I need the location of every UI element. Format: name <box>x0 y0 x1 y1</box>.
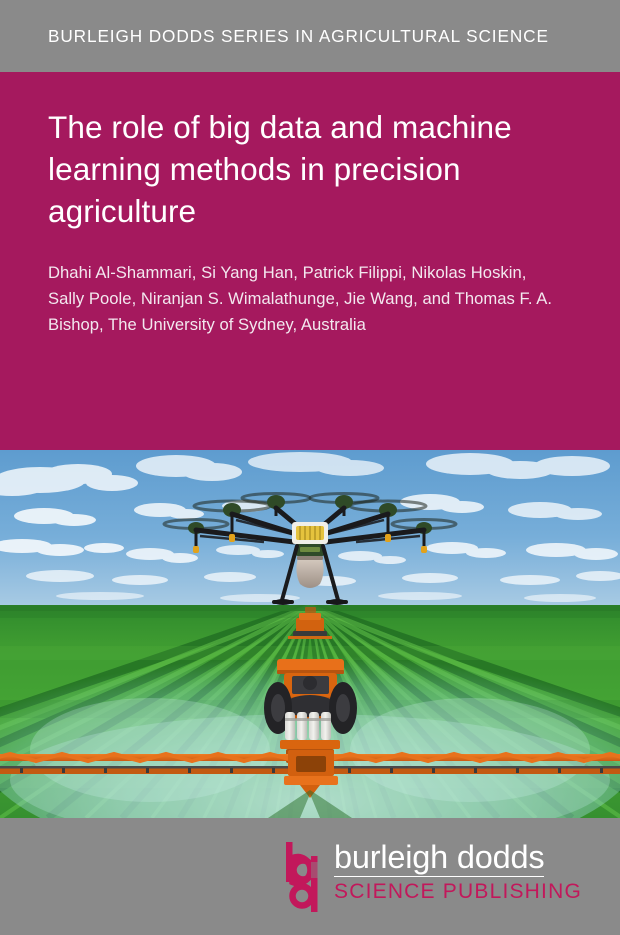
logo-tagline: SCIENCE PUBLISHING <box>334 877 582 904</box>
bd-monogram-icon <box>284 840 328 919</box>
far-distant-tractor <box>305 607 316 613</box>
drone-tank <box>296 558 323 588</box>
footer-bar: burleigh dodds SCIENCE PUBLISHING <box>0 818 620 935</box>
book-title: The role of big data and machine learnin… <box>48 106 568 232</box>
series-banner: BURLEIGH DODDS SERIES IN AGRICULTURAL SC… <box>0 0 620 72</box>
title-block: The role of big data and machine learnin… <box>0 72 620 450</box>
cover-photograph <box>0 450 620 818</box>
publisher-logo: burleigh dodds SCIENCE PUBLISHING <box>284 840 582 919</box>
farm-scene-illustration <box>0 450 620 818</box>
author-list: Dhahi Al-Shammari, Si Yang Han, Patrick … <box>48 260 560 338</box>
book-cover: BURLEIGH DODDS SERIES IN AGRICULTURAL SC… <box>0 0 620 935</box>
logo-name: burleigh dodds <box>334 840 544 877</box>
series-title: BURLEIGH DODDS SERIES IN AGRICULTURAL SC… <box>0 26 549 47</box>
logo-wordmark: burleigh dodds SCIENCE PUBLISHING <box>334 840 582 904</box>
